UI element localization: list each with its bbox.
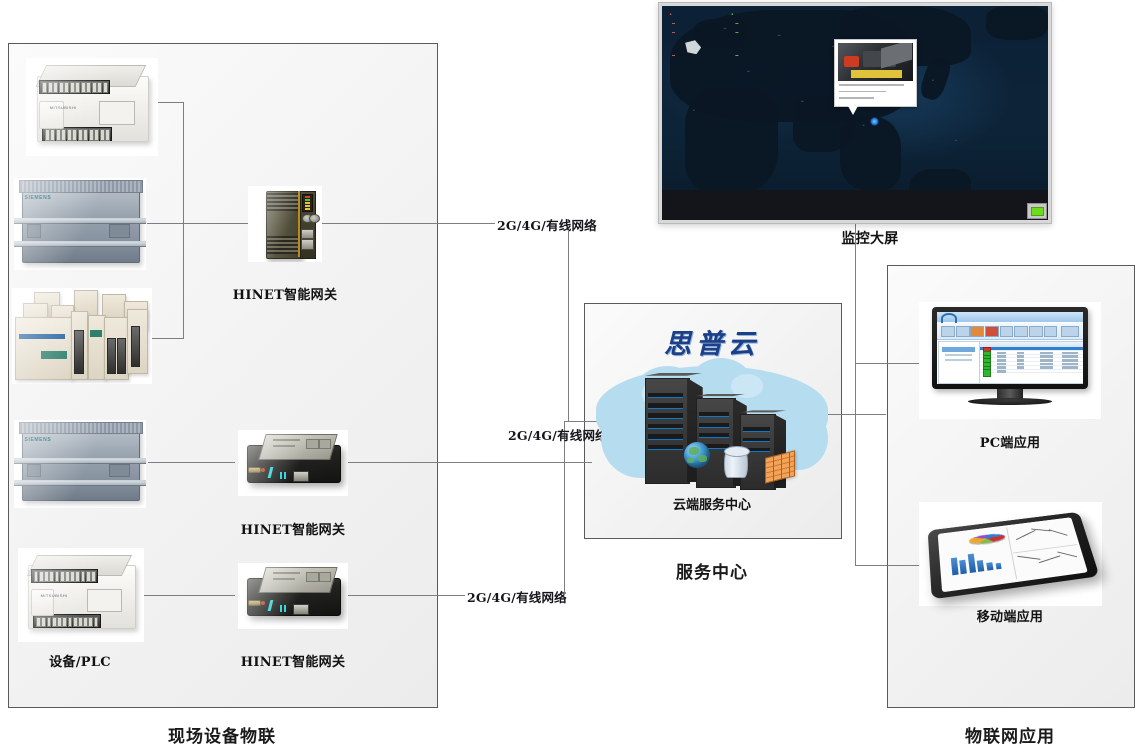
gateway-label-line-2: [273, 578, 295, 580]
ribbon-button[interactable]: [1044, 326, 1058, 337]
plc-brand-label: MITSUBISHI: [50, 105, 77, 110]
database-top: [724, 446, 750, 457]
status-indicator-icon: [983, 369, 991, 377]
server-drive-bay: [648, 393, 683, 399]
landmass-africa: [685, 87, 778, 194]
map-legend-swatch-6: ▬: [735, 53, 738, 57]
globe-icon: [684, 442, 710, 468]
rack-main-cpu: [15, 317, 73, 380]
network-label-3: 2G/4G/有线网络: [467, 587, 567, 606]
map-device-popup[interactable]: [834, 39, 917, 107]
map-city-label: ▪▪▪: [747, 70, 750, 73]
gateway-label-logo: [306, 572, 319, 582]
gateway-ethernet-port-1: [301, 229, 314, 239]
monitoring-big-screen[interactable]: ■ ■ ▬ ▬ ▬ ▬ ▬ ▬ ▪▪▪ ▪▪▪ ▪▪▪ ▪▪ ▪▪▪ ▪▪▪ ▪…: [658, 2, 1052, 224]
app-navigation-tree[interactable]: [938, 341, 980, 383]
gateway-rj45-port: [293, 471, 309, 482]
plc-group-caption: 设备/PLC: [20, 651, 140, 670]
ribbon-button[interactable]: [941, 326, 955, 337]
device-plc-mitsubishi-2: MITSUBISHI: [18, 548, 144, 642]
rack-module-slot-3: [117, 338, 126, 375]
ribbon-button[interactable]: [970, 326, 984, 337]
bar-chart-bar: [968, 554, 976, 573]
network-label-1: 2G/4G/有线网络: [497, 215, 597, 234]
tree-node[interactable]: [945, 354, 973, 356]
led-signal-1: [305, 202, 310, 204]
gateway-label-logo: [306, 439, 319, 449]
plc-port-b: [109, 224, 129, 238]
tree-node-selected[interactable]: [942, 347, 975, 352]
map-legend-title-normal: ■: [731, 12, 733, 16]
map-city-label: ▪▪: [863, 124, 865, 127]
plc-module-divider-2: [14, 241, 146, 248]
rack-module-2-bar: [90, 330, 101, 337]
grid-cell: [997, 370, 1006, 373]
server-drive-bay: [648, 445, 683, 451]
globe-landmass: [698, 455, 707, 462]
server-drive-bay: [699, 423, 730, 428]
server-drive-bay: [648, 413, 683, 419]
screen-bottom-bar: [662, 190, 1048, 220]
app-data-grid[interactable]: [979, 341, 1083, 383]
map-legend-swatch-4: ▬: [735, 30, 738, 34]
bar-chart-bar: [986, 562, 993, 571]
led-power: [305, 196, 310, 198]
popup-text-line-1: [839, 84, 904, 86]
ribbon-button[interactable]: [1000, 326, 1014, 337]
led-signal-2: [305, 205, 310, 207]
pc-app-caption: PC端应用: [940, 432, 1080, 451]
plc-port-b: [109, 464, 129, 477]
link-apps-riser: [855, 220, 856, 565]
tablet-body: [928, 512, 1100, 600]
popup-text-line-3: [839, 97, 875, 99]
link-gateway-box1-to-wan: [345, 462, 495, 463]
gateway-power-led: [261, 468, 265, 472]
device-plc-mitsubishi-1: MITSUBISHI: [26, 58, 158, 156]
gateway-rj45-port: [293, 604, 309, 615]
gateway-box-2-caption: HINET智能网关: [208, 651, 378, 670]
link-plc4-to-gateway-box1: [148, 462, 235, 463]
monitor-screen[interactable]: [937, 312, 1084, 384]
rack-module-slot-2: [107, 338, 116, 375]
gateway-din-caption: HINET智能网关: [200, 284, 370, 303]
rack-module-slot-4: [131, 326, 140, 366]
map-city-label: ▪▪▪: [724, 27, 727, 30]
diagram-canvas: 现场设备物联 服务中心 物联网应用 2G/4G/有线网络 2G/4G/有线网络 …: [0, 0, 1143, 752]
status-indicator-icon: [1031, 207, 1044, 216]
map-legend-swatch-3: ▬: [735, 21, 738, 25]
plc-port-a: [27, 464, 41, 477]
link-cloud-to-apps: [822, 414, 886, 415]
plc-brand-label: MITSUBISHI: [41, 593, 68, 598]
device-gateway-din-rail: [248, 186, 322, 262]
plc-terminal-row-bottom: [42, 127, 113, 142]
map-legend-swatch-2: ▬: [672, 30, 675, 34]
server-drive-bay: [648, 424, 683, 430]
table-row[interactable]: [980, 369, 1083, 373]
cloud-center-caption: 云端服务中心: [596, 494, 828, 513]
link-trunk-to-gateway-din: [183, 223, 250, 224]
gateway-led-panel: [302, 194, 313, 213]
landmass-seasia: [840, 117, 902, 190]
gateway-antenna-sma: [248, 600, 261, 606]
app-mobile-tablet: [919, 502, 1102, 606]
rack-cpu-terminal: [41, 351, 66, 359]
popup-pointer: [848, 106, 858, 115]
big-screen-caption: 监控大屏: [800, 228, 940, 248]
plc-port-a: [27, 224, 41, 238]
device-plc-rack-cluster: [12, 288, 152, 384]
app-pc-monitor: [919, 302, 1101, 419]
gateway-label-line-2: [273, 445, 295, 447]
line-chart-segment: [1039, 556, 1060, 564]
link-wan3-riser: [564, 462, 565, 595]
bar-chart-bar: [977, 560, 984, 572]
pie-chart: [968, 533, 1005, 545]
globe-landmass: [687, 458, 694, 464]
map-city-label: ▪▪: [932, 79, 934, 82]
server-drive-bay: [743, 427, 771, 431]
line-chart-segment: [1017, 556, 1040, 560]
plc-brand-label: SIEMENS: [25, 437, 52, 443]
ribbon-button[interactable]: [985, 326, 999, 337]
gateway-label-line-1: [273, 572, 299, 574]
map-legend-title-alarm: ■: [670, 12, 672, 16]
panel-field-devices-caption: 现场设备物联: [8, 722, 436, 747]
dashboard-divider-horizontal: [1013, 544, 1077, 553]
panel-iot-applications-caption: 物联网应用: [887, 722, 1133, 747]
firewall-icon: [765, 450, 795, 483]
ribbon-button[interactable]: [1029, 326, 1043, 337]
plc-vent: [19, 422, 142, 435]
gateway-box-1-caption: HINET智能网关: [208, 519, 378, 538]
line-chart-segment: [1016, 531, 1035, 541]
link-to-mobile-app: [855, 565, 919, 566]
ribbon-button[interactable]: [1061, 326, 1079, 337]
link-plc2-to-trunk: [147, 223, 184, 224]
server-drive-bay: [699, 433, 730, 438]
bar-chart-bar: [960, 560, 967, 575]
device-gateway-box-2: [238, 563, 348, 629]
plc-terminal-row-top: [31, 569, 99, 583]
popup-text-line-2: [839, 91, 886, 93]
tablet-screen[interactable]: [937, 518, 1088, 592]
line-chart-segment: [1057, 552, 1077, 558]
plc-brand-label: SIEMENS: [25, 195, 52, 201]
server-drive-bay: [743, 438, 771, 442]
device-plc-siemens-2: SIEMENS: [14, 420, 146, 508]
gateway-status-led-3: [284, 472, 286, 479]
link-to-pc-app: [855, 363, 919, 364]
gateway-status-led-2: [280, 472, 282, 479]
gateway-power-led: [261, 601, 265, 605]
link-gateway-box2-to-wan: [345, 595, 465, 596]
bar-chart-bar: [951, 558, 959, 576]
app-titlebar: [937, 312, 1084, 322]
globe-landmass: [689, 447, 699, 455]
ribbon-button[interactable]: [956, 326, 970, 337]
map-city-label: ▪▪: [693, 109, 695, 112]
map-city-label: ▪▪▪: [778, 34, 781, 37]
plc-vent: [19, 180, 142, 193]
plc-terminal-row-top: [39, 80, 110, 95]
landmass-alaska: [986, 6, 1048, 40]
plc-indicator-window: [99, 101, 135, 125]
screen-display: ■ ■ ▬ ▬ ▬ ▬ ▬ ▬ ▪▪▪ ▪▪▪ ▪▪▪ ▪▪ ▪▪▪ ▪▪▪ ▪…: [662, 6, 1048, 220]
cloud-service-center: 思普云: [596, 318, 828, 518]
plc-module-divider-2: [14, 480, 146, 486]
link-gateway-din-to-wan: [320, 223, 495, 224]
popup-device-photo: [838, 43, 913, 81]
dashboard-divider-vertical: [1006, 528, 1017, 580]
server-drive-bay: [699, 412, 730, 417]
screen-status-badge: [1027, 203, 1047, 219]
gateway-label-qr: [319, 572, 331, 582]
led-run: [305, 199, 310, 201]
network-label-2: 2G/4G/有线网络: [508, 425, 608, 444]
map-legend-swatch-1: ▬: [672, 21, 675, 25]
link-plc3-to-trunk: [147, 338, 184, 339]
monitor-stand-base: [968, 398, 1052, 405]
ribbon-button[interactable]: [1014, 326, 1028, 337]
server-drive-bay: [648, 403, 683, 409]
server-drive-bay: [648, 434, 683, 440]
map-city-label: ▪▪▪: [801, 100, 804, 103]
device-plc-siemens-1: SIEMENS: [14, 178, 146, 270]
monitor-bezel: [932, 307, 1089, 389]
landmass-scandinavia: [693, 19, 747, 49]
plc-indicator-window: [87, 589, 122, 612]
gateway-ethernet-port-2: [301, 239, 314, 249]
link-trunk-vertical-left: [183, 102, 184, 338]
link-wan2-to-cloud: [495, 462, 592, 463]
gateway-status-led-2: [280, 605, 282, 612]
line-chart-segment: [1049, 530, 1068, 536]
gateway-label-line-1: [273, 439, 299, 441]
mobile-app-caption: 移动端应用: [940, 606, 1080, 625]
bar-chart-bar: [995, 564, 1002, 571]
rack-module-slot-1: [74, 330, 84, 374]
gateway-status-led-3: [284, 605, 286, 612]
gateway-antenna-sma: [248, 467, 261, 473]
plc-terminal-row-bottom: [33, 614, 101, 628]
gateway-label-qr: [319, 439, 331, 449]
map-city-label: ▪▪: [955, 139, 957, 142]
cloud-brand-logo: 思普云: [596, 322, 828, 361]
link-wan1-down: [568, 230, 569, 421]
device-gateway-box-1: [238, 430, 348, 496]
gateway-antenna-connector-2: [309, 214, 320, 223]
rack-cpu-label-bar: [19, 334, 65, 339]
led-signal-3: [305, 208, 310, 210]
tree-node[interactable]: [945, 359, 973, 361]
database-icon: [724, 450, 748, 478]
panel-service-center-caption: 服务中心: [584, 558, 840, 583]
link-plc5-to-gateway-box2: [140, 595, 235, 596]
map-legend-swatch-5: ▬: [672, 53, 675, 57]
